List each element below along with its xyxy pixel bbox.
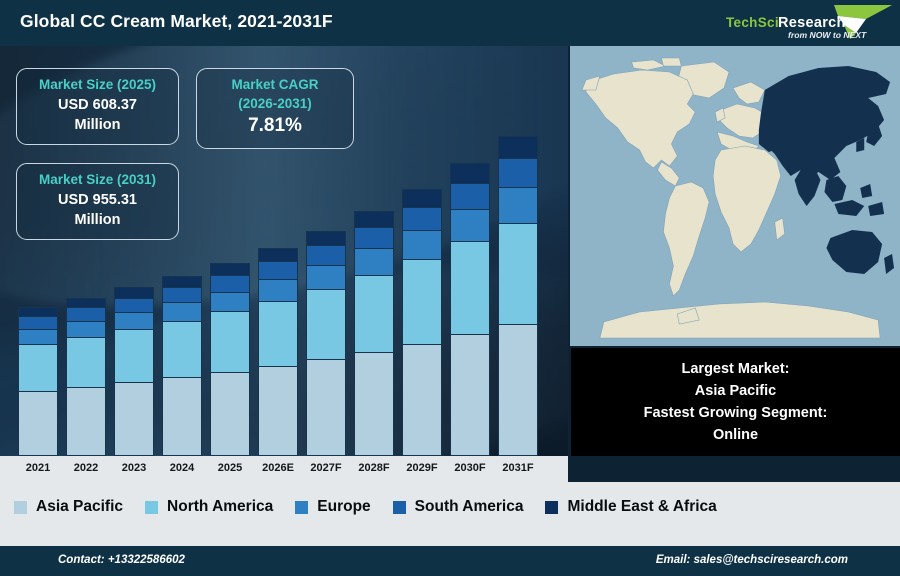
bar-segment-south-america[interactable]	[354, 227, 394, 249]
bar-segment-middle-east-africa[interactable]	[450, 163, 490, 183]
bar-segment-north-america[interactable]	[450, 241, 490, 334]
bar-segment-asia-pacific[interactable]	[114, 382, 154, 456]
legend-label: South America	[415, 498, 524, 516]
bar-segment-north-america[interactable]	[498, 223, 538, 325]
logo-text-techsci: TechSci	[726, 15, 779, 30]
header-bar: Global CC Cream Market, 2021-2031F TechS…	[0, 0, 900, 46]
logo-text-research: Research	[778, 15, 846, 31]
bar-segment-europe[interactable]	[402, 230, 442, 259]
footer-bar: Contact: +13322586602 Email: sales@techs…	[0, 546, 900, 576]
bar-segment-europe[interactable]	[354, 248, 394, 274]
legend-label: Middle East & Africa	[567, 498, 716, 516]
bar-segment-south-america[interactable]	[258, 261, 298, 279]
x-axis-label-2031F: 2031F	[490, 462, 546, 474]
legend-swatch-icon	[393, 501, 406, 514]
stat-card-title: Market CAGR	[207, 76, 343, 95]
bar-segment-north-america[interactable]	[306, 289, 346, 360]
bar-segment-north-america[interactable]	[162, 321, 202, 378]
chart-x-axis: 202120222023202420252026E2027F2028F2029F…	[0, 456, 568, 482]
bar-2026E[interactable]	[258, 248, 298, 456]
logo-graphic: TechSci Research from NOW to NEXT	[716, 3, 894, 43]
stat-card-value: USD 955.31	[27, 190, 168, 210]
legend-item-asia-pacific[interactable]: Asia Pacific	[14, 498, 123, 516]
bar-segment-europe[interactable]	[18, 329, 58, 344]
stat-card-value: Million	[27, 115, 168, 135]
legend-swatch-icon	[295, 501, 308, 514]
legend-swatch-icon	[145, 501, 158, 514]
bar-segment-south-america[interactable]	[162, 287, 202, 303]
stat-card-value: 7.81%	[207, 113, 343, 139]
legend-item-north-america[interactable]: North America	[145, 498, 273, 516]
world-map-graphic	[570, 46, 900, 346]
bar-2025[interactable]	[210, 263, 250, 456]
bar-2028F[interactable]	[354, 211, 394, 456]
bar-segment-asia-pacific[interactable]	[162, 377, 202, 456]
bar-segment-north-america[interactable]	[66, 337, 106, 387]
bar-segment-europe[interactable]	[66, 321, 106, 337]
bar-segment-middle-east-africa[interactable]	[18, 307, 58, 316]
bar-segment-asia-pacific[interactable]	[354, 352, 394, 456]
bar-segment-middle-east-africa[interactable]	[258, 248, 298, 261]
stat-card-value: Million	[27, 210, 168, 230]
bar-segment-middle-east-africa[interactable]	[66, 298, 106, 308]
bar-2031F[interactable]	[498, 136, 538, 456]
bar-segment-middle-east-africa[interactable]	[306, 231, 346, 246]
bar-segment-south-america[interactable]	[306, 245, 346, 265]
bar-segment-asia-pacific[interactable]	[258, 366, 298, 456]
bar-segment-asia-pacific[interactable]	[306, 359, 346, 456]
bar-segment-europe[interactable]	[306, 265, 346, 289]
bar-segment-south-america[interactable]	[18, 316, 58, 329]
bar-segment-asia-pacific[interactable]	[498, 324, 538, 456]
legend-item-south-america[interactable]: South America	[393, 498, 524, 516]
logo-tagline: from NOW to NEXT	[788, 30, 867, 40]
bar-2023[interactable]	[114, 287, 154, 456]
bar-segment-asia-pacific[interactable]	[402, 344, 442, 457]
bar-2024[interactable]	[162, 276, 202, 456]
legend-item-middle-east-africa[interactable]: Middle East & Africa	[545, 498, 716, 516]
stat-card-value: USD 608.37	[27, 95, 168, 115]
footer-contact: Contact: +13322586602	[58, 554, 185, 566]
bar-segment-south-america[interactable]	[114, 298, 154, 313]
key-insight-line: Asia Pacific	[695, 380, 776, 402]
bar-2027F[interactable]	[306, 231, 346, 456]
bar-segment-north-america[interactable]	[210, 311, 250, 372]
page-title: Global CC Cream Market, 2021-2031F	[20, 11, 333, 32]
chart-panel: Market Size (2025)USD 608.37Million Mark…	[0, 46, 568, 456]
stat-card-market-size-2025: Market Size (2025)USD 608.37Million	[16, 68, 179, 145]
bar-2030F[interactable]	[450, 163, 490, 456]
stat-card-market-size-2031: Market Size (2031)USD 955.31Million	[16, 163, 179, 240]
bar-segment-europe[interactable]	[498, 187, 538, 223]
infographic-page: Global CC Cream Market, 2021-2031F TechS…	[0, 0, 900, 576]
bar-segment-asia-pacific[interactable]	[210, 372, 250, 456]
bar-2022[interactable]	[66, 298, 106, 456]
bar-segment-south-america[interactable]	[66, 307, 106, 320]
legend-swatch-icon	[545, 501, 558, 514]
bar-segment-middle-east-africa[interactable]	[354, 211, 394, 227]
legend-label: North America	[167, 498, 273, 516]
bar-segment-south-america[interactable]	[450, 183, 490, 209]
bar-segment-south-america[interactable]	[498, 158, 538, 187]
stat-card-title: Market Size (2031)	[27, 171, 168, 190]
stat-card-subtitle: (2026-2031)	[207, 95, 343, 114]
legend-label: Asia Pacific	[36, 498, 123, 516]
bar-segment-middle-east-africa[interactable]	[210, 263, 250, 275]
bar-segment-north-america[interactable]	[114, 329, 154, 382]
bar-segment-north-america[interactable]	[354, 275, 394, 352]
chart-legend: Asia PacificNorth AmericaEuropeSouth Ame…	[0, 482, 900, 546]
techsci-research-logo: TechSci Research from NOW to NEXT	[716, 3, 894, 43]
bar-2021[interactable]	[18, 307, 58, 456]
bar-segment-north-america[interactable]	[402, 259, 442, 343]
bar-segment-middle-east-africa[interactable]	[162, 276, 202, 287]
bar-segment-europe[interactable]	[114, 312, 154, 329]
bar-segment-europe[interactable]	[258, 279, 298, 301]
bar-segment-asia-pacific[interactable]	[18, 391, 58, 456]
legend-label: Europe	[317, 498, 370, 516]
footer-email: Email: sales@techsciresearch.com	[656, 554, 848, 566]
bar-segment-north-america[interactable]	[18, 344, 58, 391]
bar-segment-north-america[interactable]	[258, 301, 298, 366]
legend-item-europe[interactable]: Europe	[295, 498, 370, 516]
bar-segment-middle-east-africa[interactable]	[498, 136, 538, 158]
bar-segment-middle-east-africa[interactable]	[402, 189, 442, 207]
stat-card-title: Market Size (2025)	[27, 76, 168, 95]
stat-card-market-cagr: Market CAGR(2026-2031)7.81%	[196, 68, 354, 149]
key-insight-line: Largest Market:	[682, 358, 790, 380]
legend-swatch-icon	[14, 501, 27, 514]
bar-segment-south-america[interactable]	[402, 207, 442, 231]
key-insight-line: Fastest Growing Segment:	[644, 402, 828, 424]
bar-segment-middle-east-africa[interactable]	[114, 287, 154, 298]
bar-segment-asia-pacific[interactable]	[66, 387, 106, 456]
bar-2029F[interactable]	[402, 189, 442, 456]
bar-segment-europe[interactable]	[450, 209, 490, 241]
world-map	[568, 46, 900, 346]
bar-segment-south-america[interactable]	[210, 275, 250, 292]
key-insights-box: Largest Market:Asia PacificFastest Growi…	[568, 346, 900, 456]
bar-segment-europe[interactable]	[210, 292, 250, 312]
key-insight-line: Online	[713, 424, 758, 446]
bar-segment-europe[interactable]	[162, 302, 202, 320]
bar-segment-asia-pacific[interactable]	[450, 334, 490, 456]
